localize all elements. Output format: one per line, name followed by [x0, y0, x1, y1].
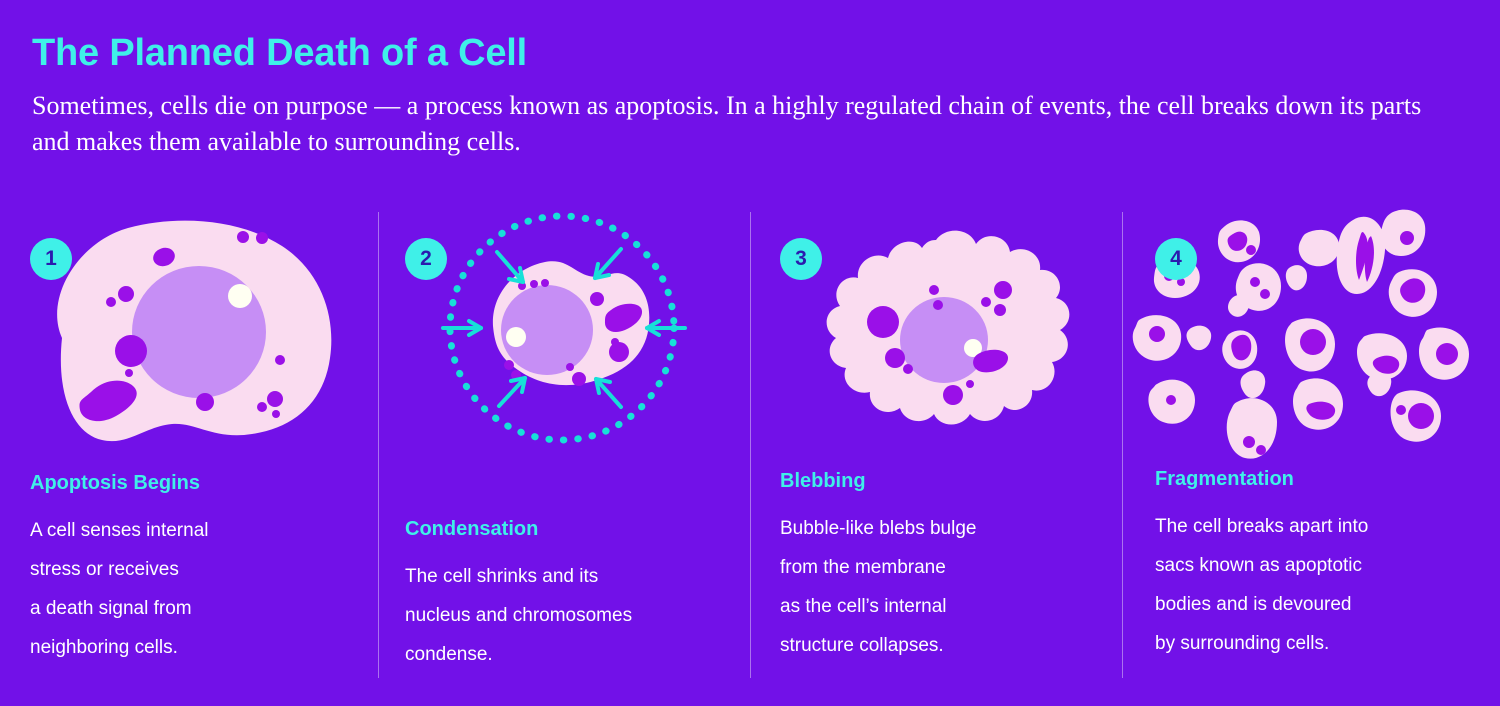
step-title-3: Blebbing: [780, 470, 1110, 493]
step-body-4: The cell breaks apart into sacs known as…: [1155, 507, 1485, 663]
step-badge-1: 1: [30, 238, 72, 280]
step-panel-4: 4: [1125, 206, 1500, 706]
step-panel-2: 2: [375, 206, 750, 706]
steps-container: 1: [0, 206, 1500, 706]
step-body-1: A cell senses internal stress or receive…: [30, 511, 360, 667]
page-subtitle: Sometimes, cells die on purpose — a proc…: [32, 88, 1452, 160]
apoptosis-infographic: The Planned Death of a Cell Sometimes, c…: [0, 0, 1500, 706]
step-title-2: Condensation: [405, 518, 735, 541]
step-title-1: Apoptosis Begins: [30, 472, 360, 495]
step-body-2: The cell shrinks and its nucleus and chr…: [405, 557, 735, 674]
step-caption-1: Apoptosis Begins A cell senses internal …: [30, 472, 360, 667]
step-caption-3: Blebbing Bubble-like blebs bulge from th…: [780, 470, 1110, 665]
header: The Planned Death of a Cell Sometimes, c…: [32, 30, 1472, 160]
step-caption-4: Fragmentation The cell breaks apart into…: [1155, 468, 1485, 663]
step-badge-2: 2: [405, 238, 447, 280]
step-badge-3: 3: [780, 238, 822, 280]
step-badge-4: 4: [1155, 238, 1197, 280]
page-title: The Planned Death of a Cell: [32, 30, 1472, 76]
step-caption-2: Condensation The cell shrinks and its nu…: [405, 518, 735, 674]
step-panel-3: 3: [750, 206, 1125, 706]
step-title-4: Fragmentation: [1155, 468, 1485, 491]
step-panel-1: 1: [0, 206, 375, 706]
step-body-3: Bubble-like blebs bulge from the membran…: [780, 509, 1110, 665]
